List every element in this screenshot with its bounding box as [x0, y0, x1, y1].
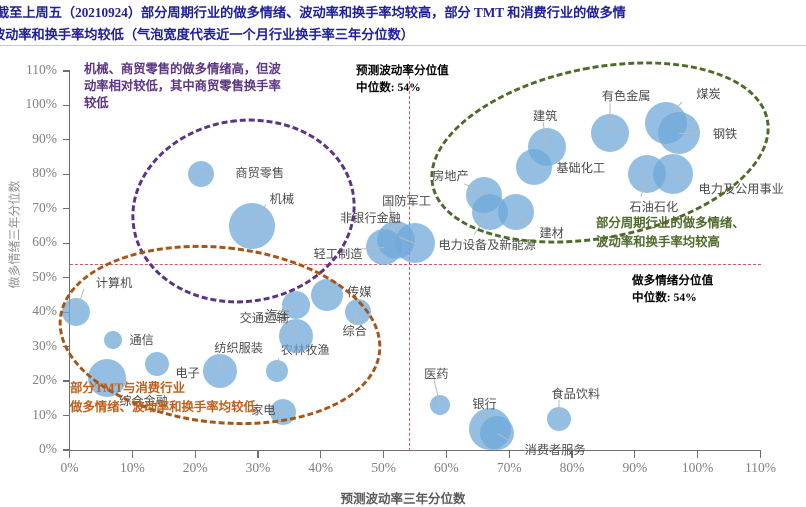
figure-title: 截至上周五（20210924）部分周期行业的做多情绪、波动率和换手率均较高，部分… [0, 0, 806, 46]
y-tick-label: 110% [11, 62, 57, 78]
x-tick-label: 70% [479, 460, 539, 476]
x-tick [760, 451, 761, 458]
x-tick [634, 451, 635, 458]
x-axis-line [69, 450, 761, 451]
x-tick [132, 451, 133, 458]
y-tick-label: 100% [11, 96, 57, 112]
title-line-1: 截至上周五（20210924）部分周期行业的做多情绪、波动率和换手率均较高，部分… [0, 2, 626, 21]
sentiment-median-label: 做多情绪分位值 中位数: 54% [632, 272, 713, 306]
x-tick [383, 451, 384, 458]
x-tick [257, 451, 258, 458]
y-tick [63, 70, 70, 71]
x-tick-label: 60% [416, 460, 476, 476]
x-tick-label: 40% [291, 460, 351, 476]
volatility-median-label: 预测波动率分位值 中位数: 54% [356, 62, 449, 96]
bubble-label-消费者服务: 消费者服务 [525, 440, 586, 458]
y-tick-label: 10% [11, 407, 57, 423]
bubble-chart-figure: 截至上周五（20210924）部分周期行业的做多情绪、波动率和换手率均较高，部分… [0, 0, 806, 502]
x-tick-label: 110% [731, 460, 791, 476]
x-tick-label: 100% [668, 460, 728, 476]
plot-area: 0%10%20%30%40%50%60%70%80%90%100%110% 0%… [0, 46, 806, 502]
y-tick [63, 139, 70, 140]
y-tick [63, 243, 70, 244]
x-tick [446, 451, 447, 458]
title-line-2: 波动率和换手率均较低（气泡宽度代表近一个月行业换手率三年分位数） [0, 24, 414, 43]
annotation-green: 部分周期行业的做多情绪、 波动率和换手率均较高 [596, 214, 801, 252]
y-tick [63, 208, 70, 209]
x-tick-label: 20% [165, 460, 225, 476]
y-axis-title: 做多情绪三年分位数 [6, 165, 23, 305]
x-tick-label: 90% [605, 460, 665, 476]
x-tick-label: 30% [228, 460, 288, 476]
y-tick [63, 415, 70, 416]
annotation-purple: 机械、商贸零售的做多情绪高，但波 动率相对较低，其中商贸零售换手率 较低 [84, 61, 334, 112]
y-tick [63, 174, 70, 175]
x-tick-label: 10% [102, 460, 162, 476]
x-tick [69, 451, 70, 458]
x-tick [320, 451, 321, 458]
y-tick [63, 380, 70, 381]
y-tick-label: 40% [11, 303, 57, 319]
bubble-label-国防军工: 国防军工 [382, 191, 431, 209]
x-axis-title: 预测波动率三年分位数 [0, 488, 806, 507]
x-tick [697, 451, 698, 458]
x-tick-label: 0% [40, 460, 100, 476]
x-tick [195, 451, 196, 458]
x-tick-label: 50% [354, 460, 414, 476]
annotation-orange: 部分TMT与消费行业 做多情绪、波动率和换手率均较低 [70, 379, 370, 417]
y-tick [63, 277, 70, 278]
bubble-label-医药: 医药 [424, 364, 448, 382]
y-tick-label: 20% [11, 372, 57, 388]
bubble-label-食品饮料: 食品饮料 [551, 384, 600, 402]
y-tick [63, 105, 70, 106]
x-tick [509, 451, 510, 458]
y-tick-label: 0% [11, 441, 57, 457]
x-tick-label: 80% [542, 460, 602, 476]
y-tick-label: 90% [11, 131, 57, 147]
bubble-label-银行: 银行 [472, 394, 496, 412]
y-tick-label: 30% [11, 338, 57, 354]
